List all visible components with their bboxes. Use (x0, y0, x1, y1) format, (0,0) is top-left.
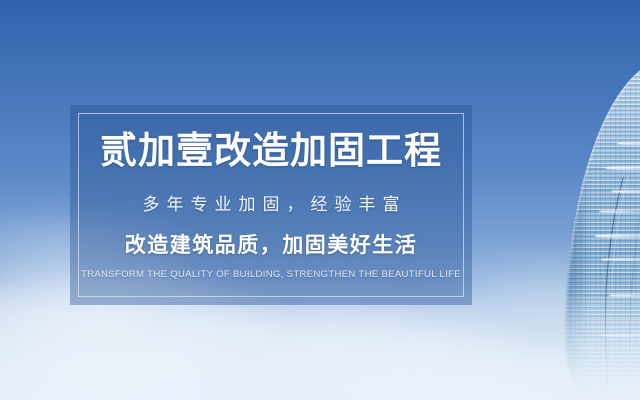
skyscraper-building (545, 0, 640, 400)
tower-bottom-haze (565, 290, 640, 400)
banner-text-block: 贰加壹改造加固工程 多年专业加固，经验丰富 改造建筑品质，加固美好生活 TRAN… (70, 105, 472, 305)
banner-english-tagline: TRANSFORM THE QUALITY OF BUILDING, STREN… (81, 269, 461, 280)
banner-image: 贰加壹改造加固工程 多年专业加固，经验丰富 改造建筑品质，加固美好生活 TRAN… (0, 0, 640, 400)
tower-body (565, 58, 640, 400)
banner-tagline: 改造建筑品质，加固美好生活 (125, 229, 418, 259)
banner-title: 贰加壹改造加固工程 (100, 131, 442, 171)
banner-subtitle: 多年专业加固，经验丰富 (136, 190, 407, 215)
